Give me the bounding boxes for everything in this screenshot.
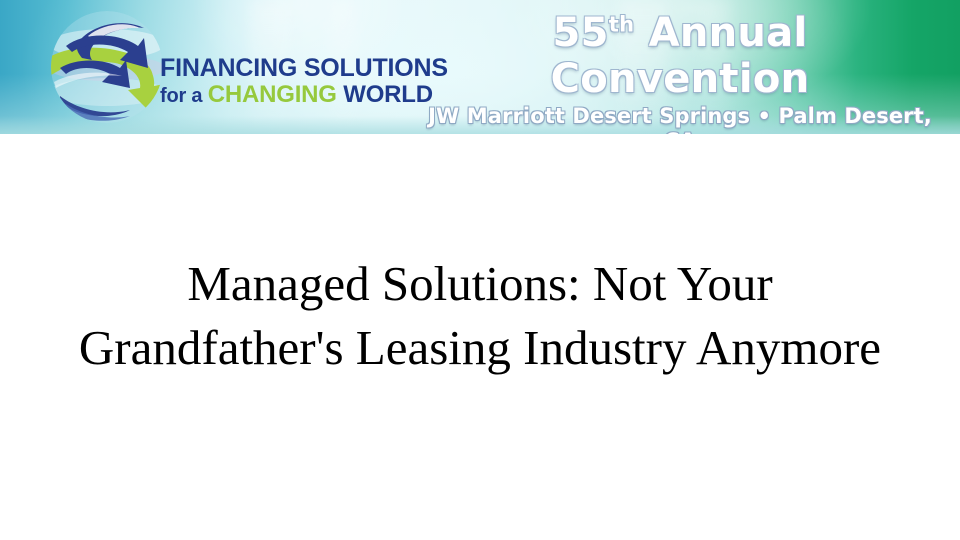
convention-ordinal-suffix: th: [609, 13, 635, 37]
slide-title-line-1: Managed Solutions: Not Your: [20, 252, 940, 316]
globe-arrows-logo-icon: [44, 6, 170, 128]
slide-title-line-2: Grandfather's Leasing Industry Anymore: [20, 316, 940, 380]
convention-venue: JW Marriott Desert Springs • Palm Desert…: [420, 104, 940, 134]
slide-title: Managed Solutions: Not Your Grandfather'…: [20, 252, 940, 380]
convention-ordinal-number: 55: [553, 10, 609, 56]
logo-line-1: FINANCING SOLUTIONS: [160, 56, 448, 81]
logo-line-2-suffix: WORLD: [337, 81, 433, 108]
convention-title: 55th Annual Convention: [420, 10, 940, 102]
logo-line-2-prefix: for a: [160, 85, 208, 107]
presentation-slide: FINANCING SOLUTIONS for a CHANGING WORLD…: [0, 0, 960, 540]
convention-header-banner: FINANCING SOLUTIONS for a CHANGING WORLD…: [0, 0, 960, 134]
logo-wordmark: FINANCING SOLUTIONS for a CHANGING WORLD: [160, 56, 448, 107]
logo-line-2-highlight: CHANGING: [208, 81, 337, 108]
logo-line-2: for a CHANGING WORLD: [160, 83, 448, 107]
convention-text-block: 55th Annual Convention JW Marriott Deser…: [420, 0, 940, 134]
